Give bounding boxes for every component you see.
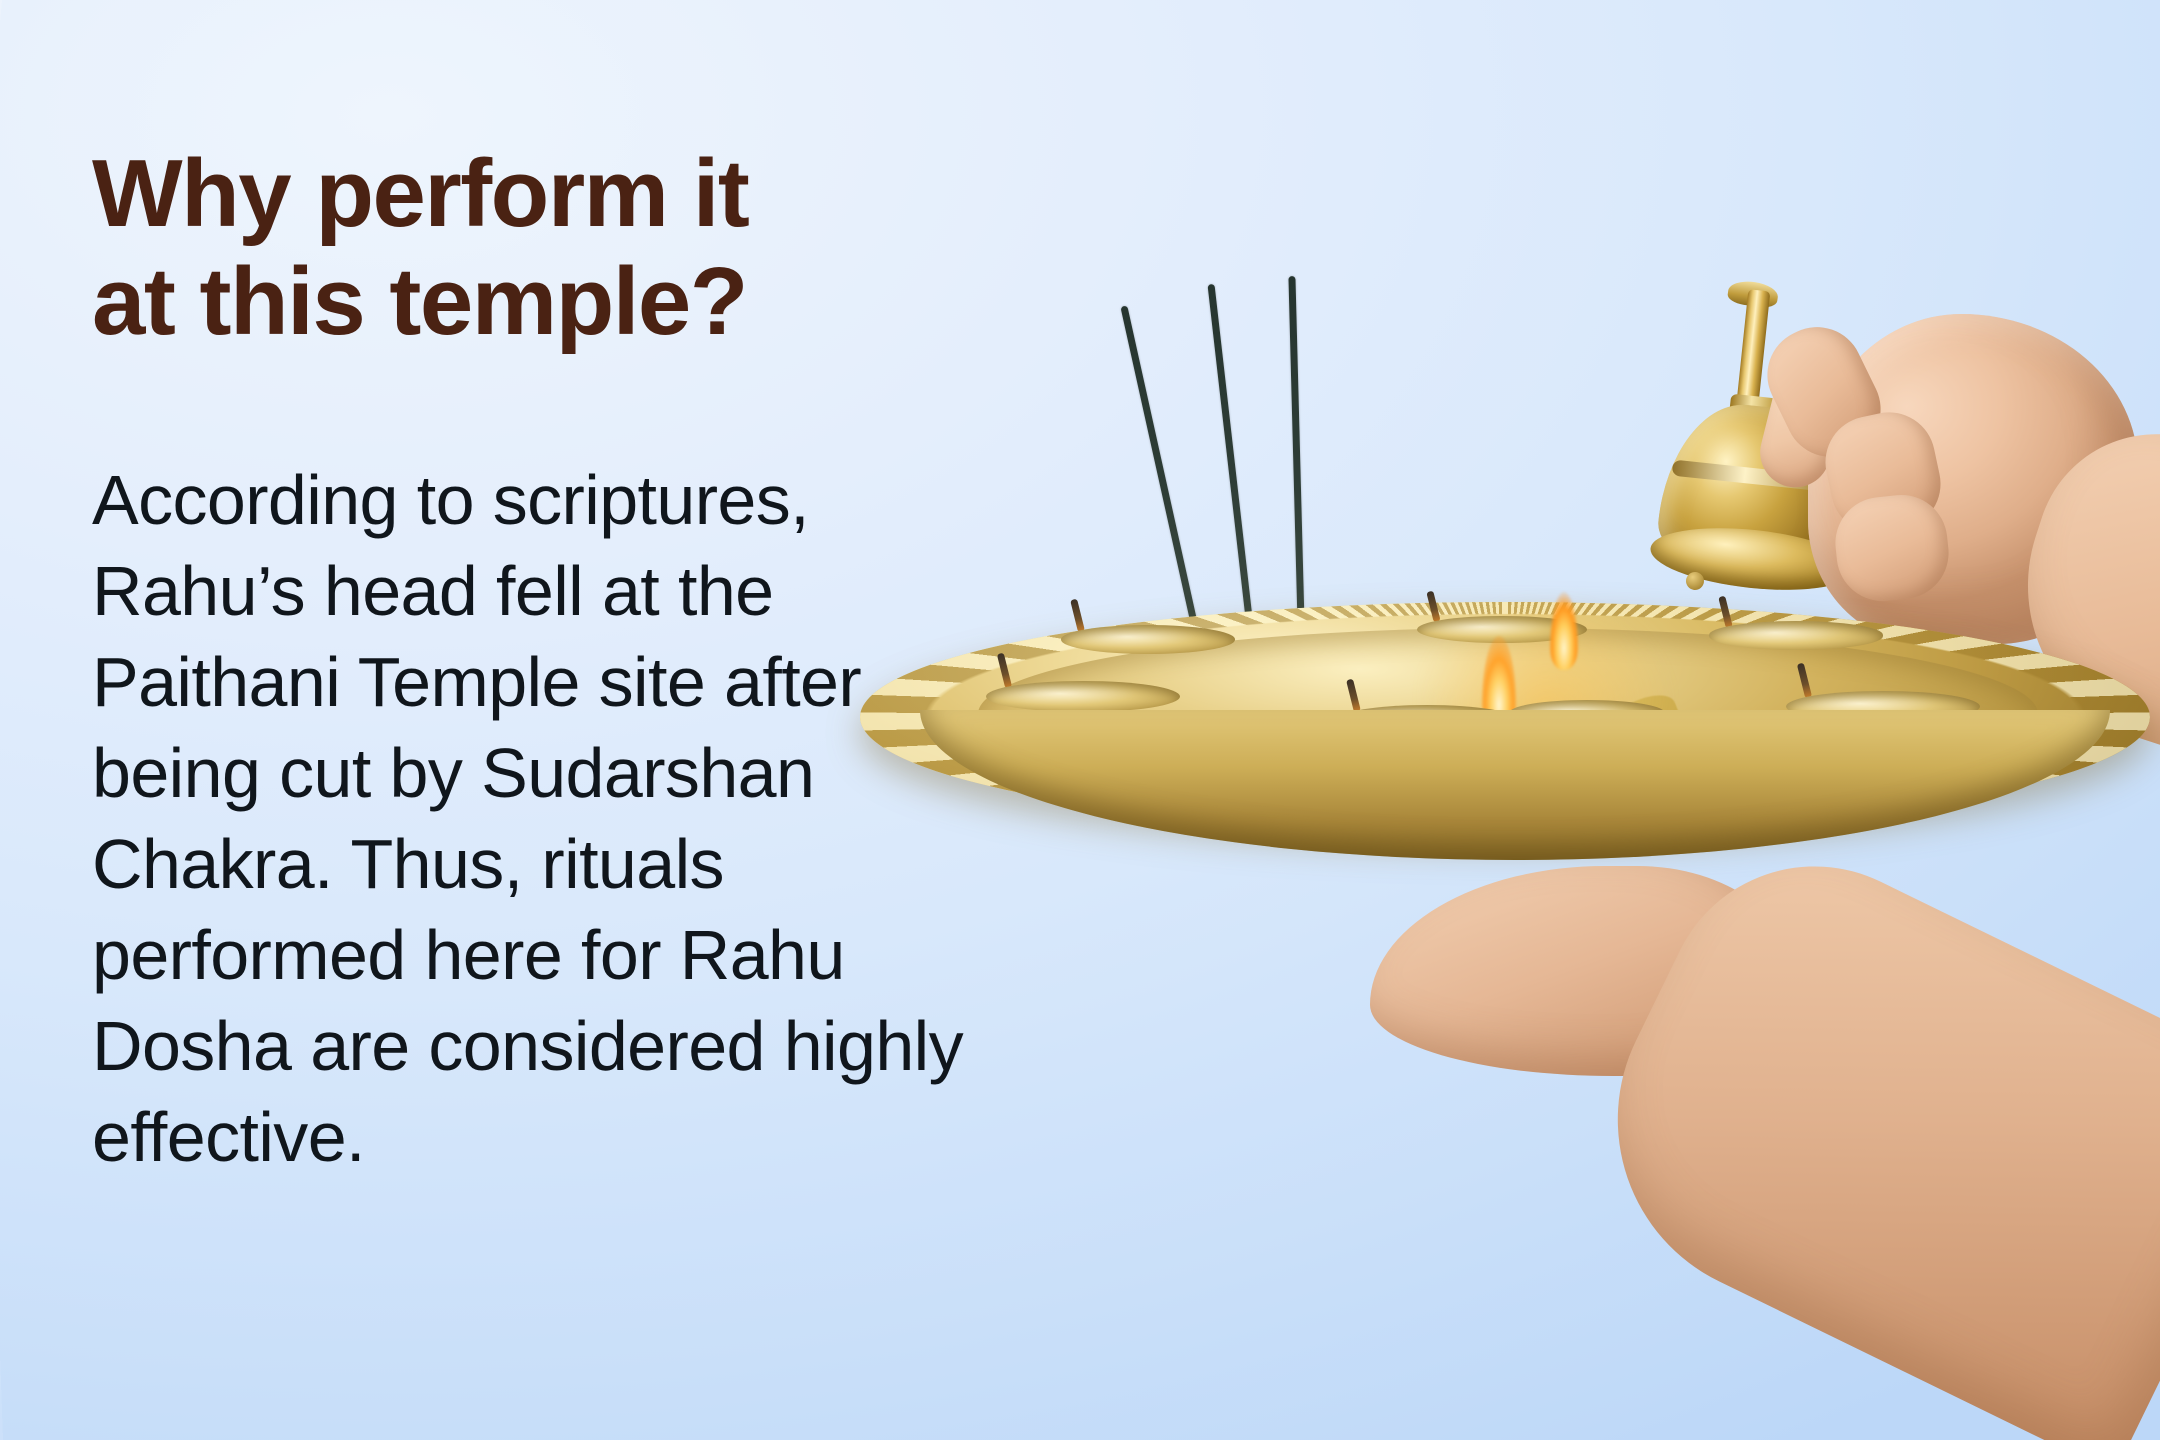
plate-underside [920,710,2110,860]
wick [1070,599,1085,632]
puja-photo [980,0,2160,1440]
bell-and-hand [1590,286,2110,616]
page-title: Why perform it at this temple? [92,140,1052,355]
puja-thali [860,570,2160,930]
promo-slide: Why perform it at this temple? According… [0,0,2160,1440]
